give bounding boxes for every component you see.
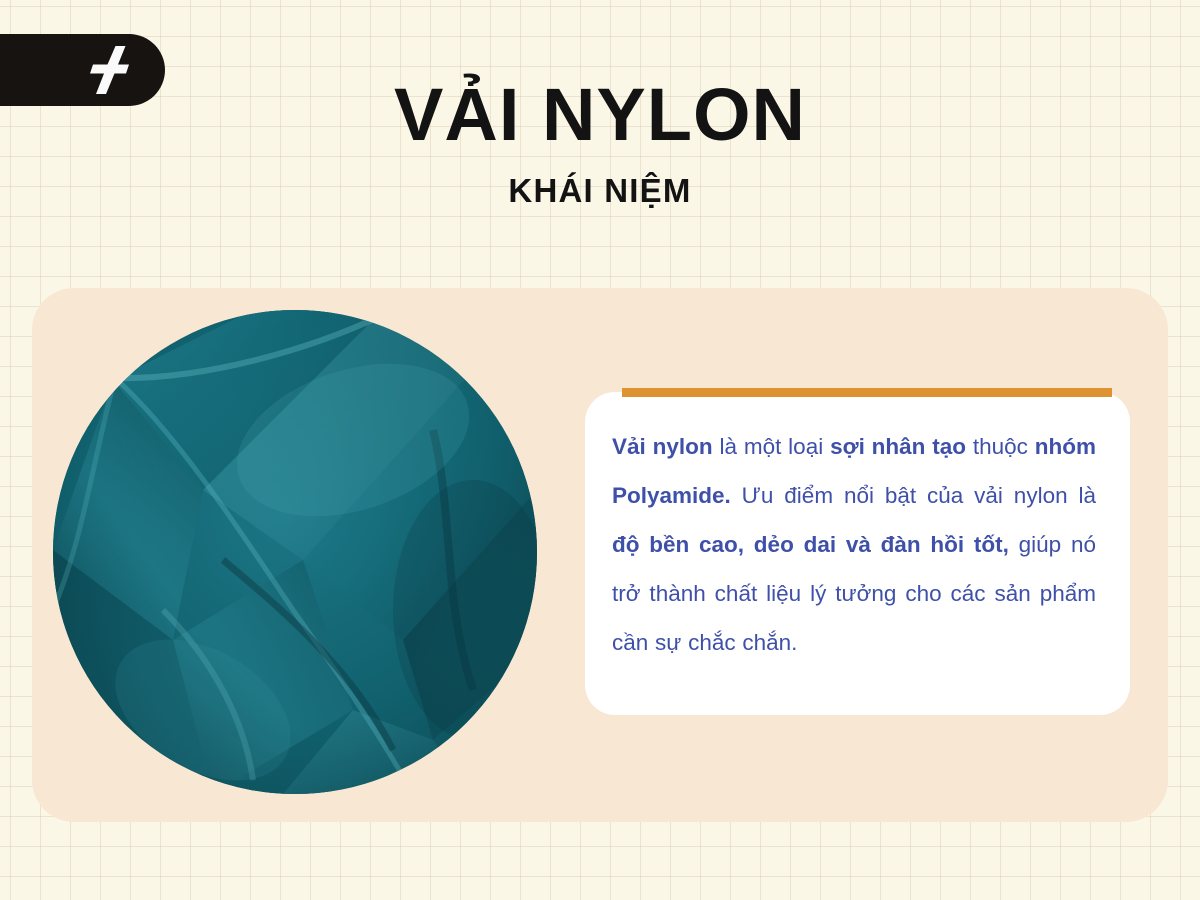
page-title: VẢI NYLON: [0, 78, 1200, 152]
info-card: Vải nylon là một loại sợi nhân tạo thuộc…: [585, 392, 1130, 715]
fabric-image-circle: [53, 310, 537, 794]
paragraph-emphasis: độ bền cao, dẻo dai và đàn hồi tốt,: [612, 532, 1009, 557]
info-card-wrapper: Vải nylon là một loại sợi nhân tạo thuộc…: [585, 386, 1130, 715]
paragraph-emphasis: sợi nhân tạo: [830, 434, 966, 459]
paragraph-emphasis: Vải nylon: [612, 434, 713, 459]
card-paragraph: Vải nylon là một loại sợi nhân tạo thuộc…: [612, 422, 1096, 667]
slide-canvas: VẢI NYLON KHÁI NIỆM: [0, 0, 1200, 900]
teal-nylon-fabric-photo: [53, 310, 537, 794]
page-subtitle: KHÁI NIỆM: [0, 174, 1200, 207]
title-block: VẢI NYLON KHÁI NIỆM: [0, 78, 1200, 207]
paragraph-text: thuộc: [966, 434, 1035, 459]
accent-bar: [622, 388, 1112, 397]
paragraph-text: là một loại: [713, 434, 830, 459]
paragraph-text: Ưu điểm nổi bật của vải nylon là: [731, 483, 1096, 508]
